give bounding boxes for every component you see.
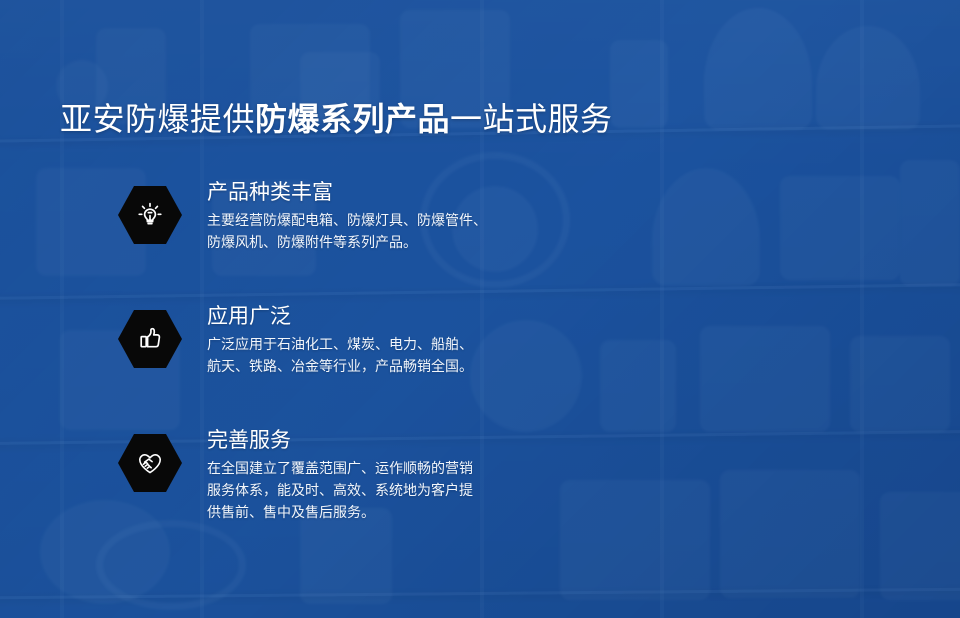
- feature-title: 应用广泛: [207, 304, 638, 330]
- feature-item: 产品种类丰富 主要经营防爆配电箱、防爆灯具、防爆管件、 防爆风机、防爆附件等系列…: [118, 180, 638, 266]
- feature-item: 应用广泛 广泛应用于石油化工、煤炭、电力、船舶、 航天、铁路、冶金等行业，产品畅…: [118, 304, 638, 390]
- feature-text: 产品种类丰富 主要经营防爆配电箱、防爆灯具、防爆管件、 防爆风机、防爆附件等系列…: [207, 180, 638, 253]
- hexagon-badge: [118, 186, 182, 244]
- feature-title: 产品种类丰富: [207, 180, 638, 206]
- headline-part-1: 亚安防爆提供: [60, 101, 255, 137]
- page-title: 亚安防爆提供防爆系列产品一站式服务: [60, 100, 613, 138]
- thumbs-up-icon: [134, 323, 166, 355]
- heart-handshake-icon: [134, 447, 166, 479]
- lightbulb-icon: [134, 199, 166, 231]
- promo-banner: 亚安防爆提供防爆系列产品一站式服务 产品种类丰富: [0, 0, 960, 618]
- feature-badge: [118, 186, 182, 244]
- feature-badge: [118, 434, 182, 492]
- feature-body-line: 防爆风机、防爆附件等系列产品。: [207, 231, 638, 253]
- feature-body: 在全国建立了覆盖范围广、运作顺畅的营销 服务体系，能及时、高效、系统地为客户提 …: [207, 457, 638, 523]
- feature-list: 产品种类丰富 主要经营防爆配电箱、防爆灯具、防爆管件、 防爆风机、防爆附件等系列…: [118, 180, 638, 523]
- feature-text: 完善服务 在全国建立了覆盖范围广、运作顺畅的营销 服务体系，能及时、高效、系统地…: [207, 428, 638, 523]
- banner-content: 亚安防爆提供防爆系列产品一站式服务 产品种类丰富: [0, 0, 960, 618]
- feature-body-line: 在全国建立了覆盖范围广、运作顺畅的营销: [207, 457, 638, 479]
- hexagon-badge: [118, 434, 182, 492]
- feature-body-line: 主要经营防爆配电箱、防爆灯具、防爆管件、: [207, 209, 638, 231]
- feature-badge: [118, 310, 182, 368]
- feature-body-line: 广泛应用于石油化工、煤炭、电力、船舶、: [207, 333, 638, 355]
- feature-title: 完善服务: [207, 428, 638, 454]
- feature-body-line: 服务体系，能及时、高效、系统地为客户提: [207, 479, 638, 501]
- feature-body-line: 供售前、售中及售后服务。: [207, 501, 638, 523]
- headline-part-3: 一站式服务: [450, 101, 613, 137]
- feature-body: 主要经营防爆配电箱、防爆灯具、防爆管件、 防爆风机、防爆附件等系列产品。: [207, 209, 638, 253]
- headline-part-2-bold: 防爆系列产品: [255, 101, 450, 137]
- feature-body: 广泛应用于石油化工、煤炭、电力、船舶、 航天、铁路、冶金等行业，产品畅销全国。: [207, 333, 638, 377]
- feature-text: 应用广泛 广泛应用于石油化工、煤炭、电力、船舶、 航天、铁路、冶金等行业，产品畅…: [207, 304, 638, 377]
- feature-item: 完善服务 在全国建立了覆盖范围广、运作顺畅的营销 服务体系，能及时、高效、系统地…: [118, 428, 638, 523]
- hexagon-badge: [118, 310, 182, 368]
- feature-body-line: 航天、铁路、冶金等行业，产品畅销全国。: [207, 355, 638, 377]
